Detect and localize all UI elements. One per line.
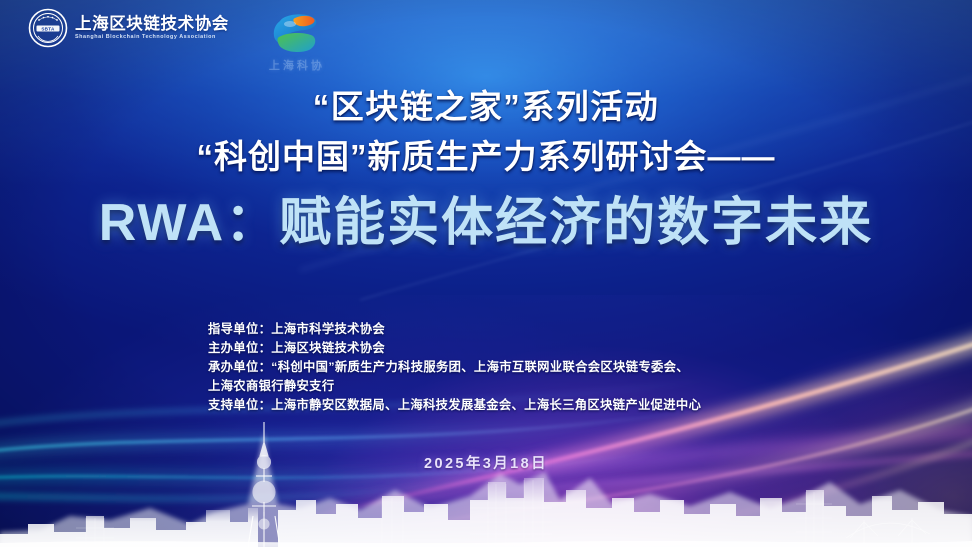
organizer-line: 上海农商银行静安支行 (208, 377, 701, 396)
organizer-list: 指导单位：上海市科学技术协会 主办单位：上海区块链技术协会 承办单位：“科创中国… (208, 320, 701, 415)
organizer-line: 支持单位：上海市静安区数据局、上海科技发展基金会、上海长三角区块链产业促进中心 (208, 396, 701, 415)
event-subtitle: “科创中国”新质生产力系列研讨会—— (0, 130, 972, 184)
title-block: “区块链之家”系列活动 “科创中国”新质生产力系列研讨会—— RWA：赋能实体经… (0, 84, 972, 256)
organizer-line: 承办单位：“科创中国”新质生产力科技服务团、上海市互联网业联合会区块链专委会、 (208, 358, 701, 377)
organizer-line: 指导单位：上海市科学技术协会 (208, 320, 701, 339)
event-banner: SBTA 上海区块链技术协会 Shanghai Blockchain Techn… (0, 0, 972, 547)
organizer-line: 主办单位：上海区块链技术协会 (208, 339, 701, 358)
shanghai-kexie-sphere-mark (265, 10, 329, 56)
svg-text:SBTA: SBTA (41, 26, 55, 31)
association-logo: SBTA 上海区块链技术协会 Shanghai Blockchain Techn… (28, 8, 229, 48)
association-name-cn: 上海区块链技术协会 (75, 16, 229, 33)
event-main-title: RWA：赋能实体经济的数字未来 (0, 190, 972, 256)
kechuang-logo: 上海科协 (257, 10, 337, 76)
association-name-en: Shanghai Blockchain Technology Associati… (75, 35, 229, 40)
logo-bar: SBTA 上海区块链技术协会 Shanghai Blockchain Techn… (28, 8, 337, 76)
sbta-circular-emblem: SBTA (28, 8, 68, 48)
event-series-title: “区块链之家”系列活动 (0, 84, 972, 130)
event-date: 2025年3月18日 (0, 452, 972, 473)
kechuang-name-cn: 上海科协 (257, 57, 337, 73)
